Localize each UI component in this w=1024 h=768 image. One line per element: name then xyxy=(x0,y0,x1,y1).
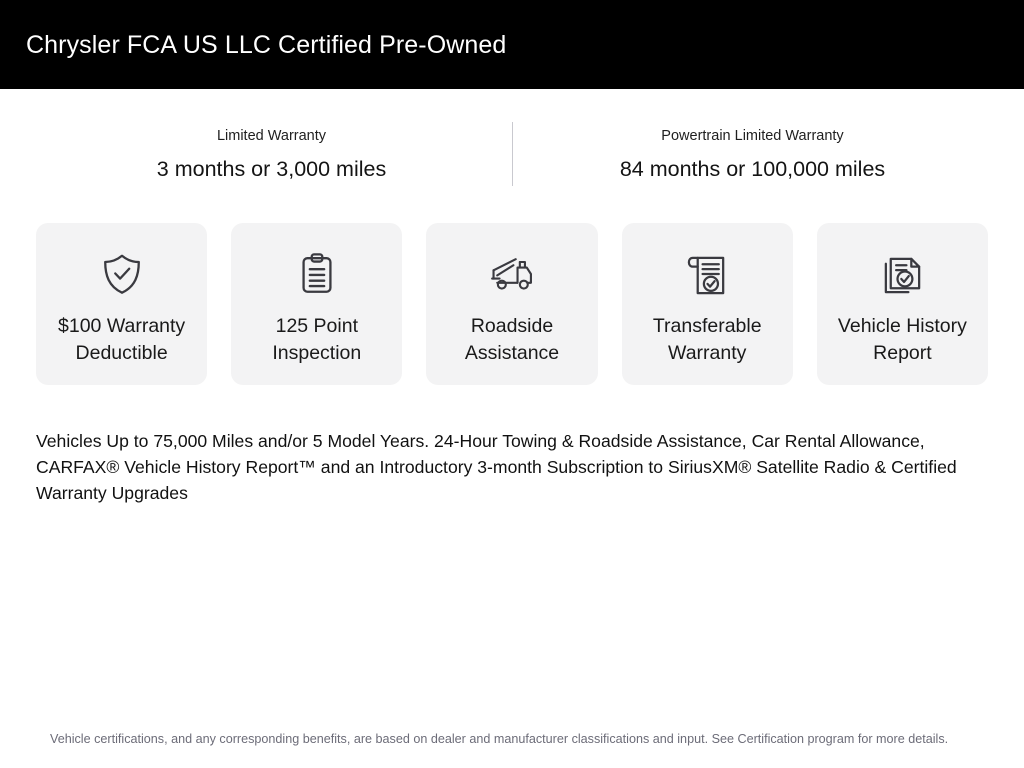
footer-disclaimer-text: Vehicle certifications, and any correspo… xyxy=(50,730,980,750)
feature-card-label: $100 Warranty Deductible xyxy=(50,313,193,367)
powertrain-warranty-block: Powertrain Limited Warranty 84 months or… xyxy=(513,117,993,184)
powertrain-warranty-label: Powertrain Limited Warranty xyxy=(513,126,993,146)
program-description: Vehicles Up to 75,000 Miles and/or 5 Mod… xyxy=(36,429,988,507)
limited-warranty-block: Limited Warranty 3 months or 3,000 miles xyxy=(32,117,512,184)
clipboard-icon xyxy=(294,247,340,301)
feature-card-point-inspection[interactable]: 125 Point Inspection xyxy=(231,223,402,385)
feature-card-roadside-assistance[interactable]: Roadside Assistance xyxy=(426,223,597,385)
certificate-check-icon xyxy=(684,247,731,301)
feature-card-label: Vehicle History Report xyxy=(830,313,975,367)
feature-card-list: $100 Warranty Deductible 125 Point Inspe… xyxy=(0,223,1024,385)
limited-warranty-value: 3 months or 3,000 miles xyxy=(32,155,512,184)
certified-pre-owned-page: Chrysler FCA US LLC Certified Pre-Owned … xyxy=(0,0,1024,768)
feature-card-label: Roadside Assistance xyxy=(457,313,567,367)
feature-card-vehicle-history-report[interactable]: Vehicle History Report xyxy=(817,223,988,385)
page-header: Chrysler FCA US LLC Certified Pre-Owned xyxy=(0,0,1024,89)
shield-check-icon xyxy=(99,247,145,301)
documents-check-icon xyxy=(879,247,926,301)
feature-card-label: Transferable Warranty xyxy=(645,313,770,367)
powertrain-warranty-value: 84 months or 100,000 miles xyxy=(513,155,993,184)
limited-warranty-label: Limited Warranty xyxy=(32,126,512,146)
tow-truck-icon xyxy=(488,247,536,301)
page-title: Chrysler FCA US LLC Certified Pre-Owned xyxy=(0,30,506,60)
feature-card-label: 125 Point Inspection xyxy=(264,313,369,367)
footer-disclaimer: Vehicle certifications, and any correspo… xyxy=(50,730,980,750)
warranty-summary: Limited Warranty 3 months or 3,000 miles… xyxy=(0,117,1024,199)
feature-card-transferable-warranty[interactable]: Transferable Warranty xyxy=(622,223,793,385)
feature-card-warranty-deductible[interactable]: $100 Warranty Deductible xyxy=(36,223,207,385)
